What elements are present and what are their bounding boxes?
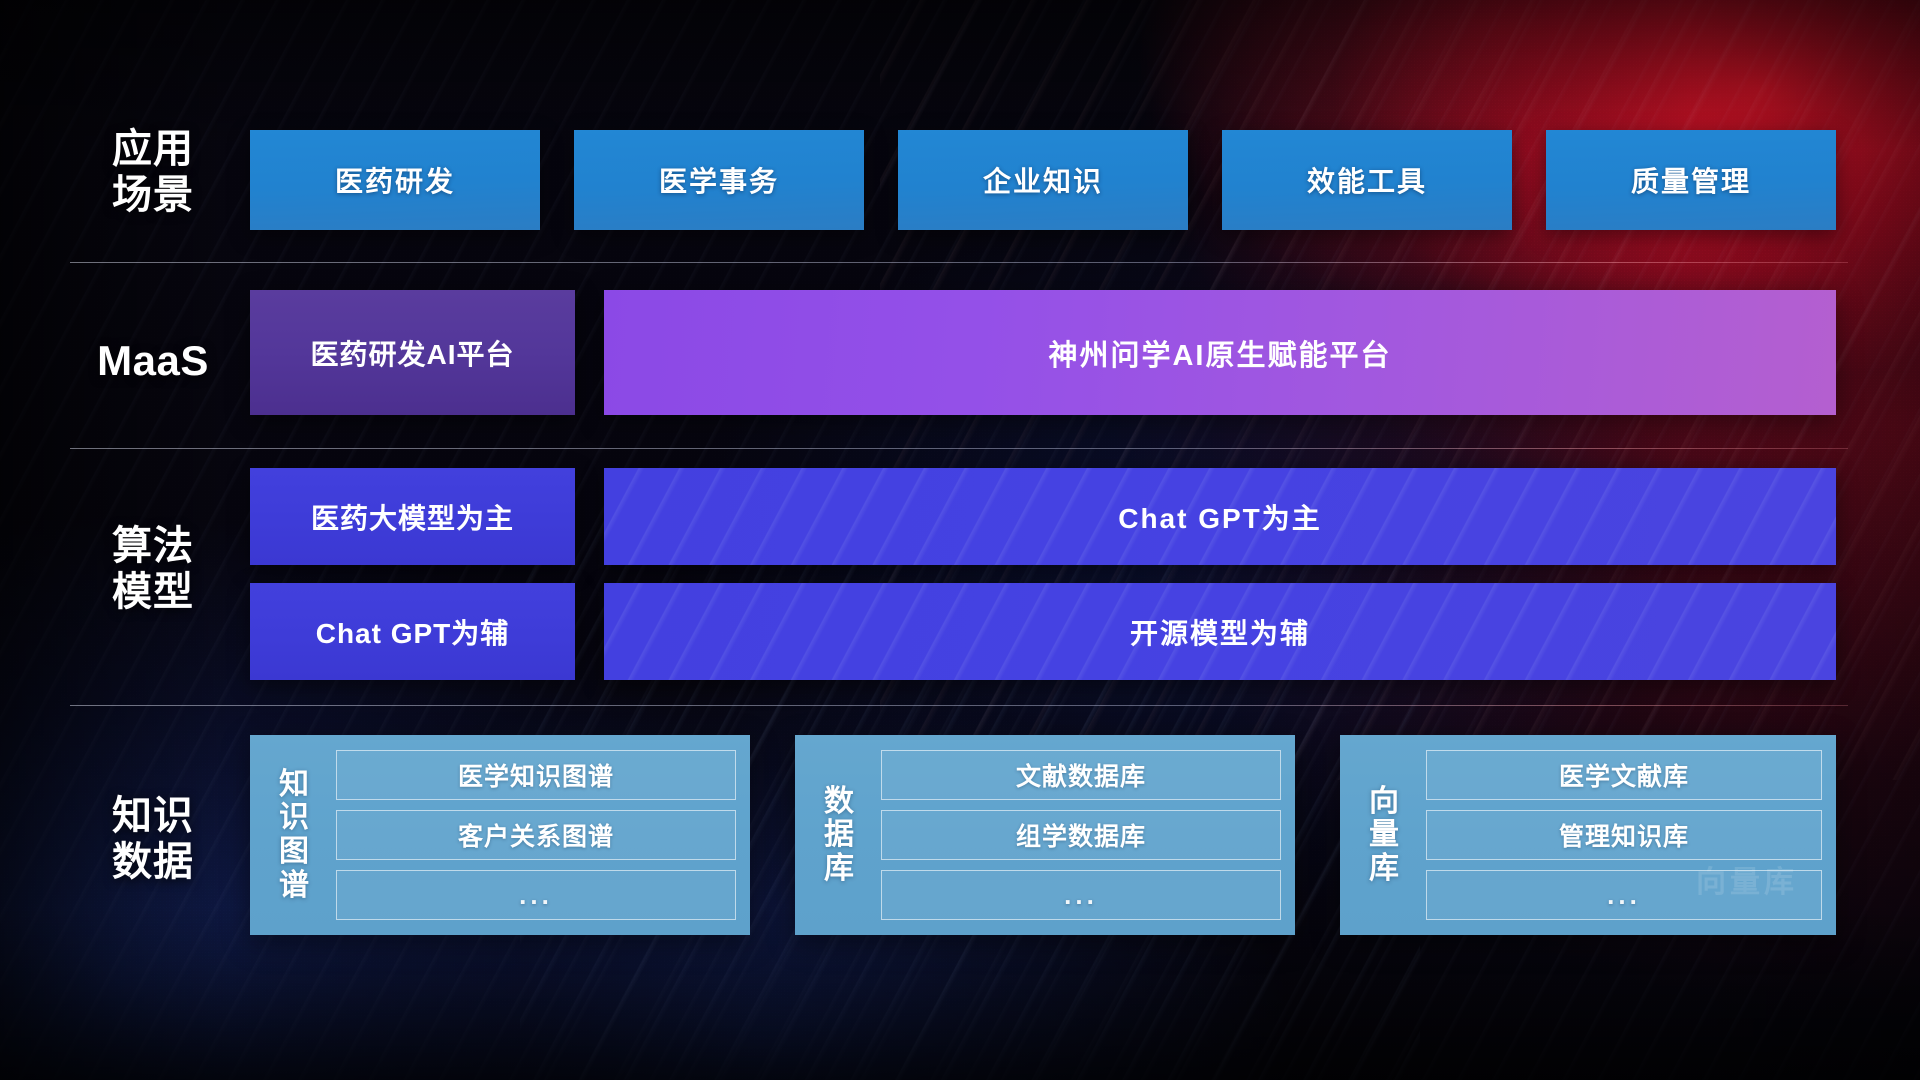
app-card-label: 效能工具	[1307, 160, 1427, 200]
app-card-label: 医药研发	[335, 160, 455, 200]
app-card-medical-affairs[interactable]: 医学事务	[574, 130, 864, 230]
row-label-algorithm-line2: 模型	[68, 569, 238, 615]
maas-card-shenzhou-wenxue-platform[interactable]: 神州问学AI原生赋能平台	[604, 290, 1836, 415]
divider-algorithm-knowledge	[70, 705, 1848, 706]
divider-maas-algorithm	[70, 448, 1848, 449]
maas-right-label: 神州问学AI原生赋能平台	[1048, 332, 1391, 374]
knowledge-group-vector-store: 向量库 医学文献库 管理知识库 ... 向量库	[1340, 735, 1836, 935]
knowledge-item-customer-relation-graph[interactable]: 客户关系图谱	[336, 810, 736, 860]
app-card-label: 质量管理	[1631, 160, 1751, 200]
algo-right-label: Chat GPT为主	[1118, 497, 1322, 537]
app-card-efficiency-tools[interactable]: 效能工具	[1222, 130, 1512, 230]
app-card-label: 企业知识	[983, 160, 1103, 200]
row-label-maas: MaaS	[68, 337, 238, 386]
app-card-quality-management[interactable]: 质量管理	[1546, 130, 1836, 230]
knowledge-item-more[interactable]: ...	[881, 870, 1281, 920]
algo-card-chatgpt-secondary[interactable]: Chat GPT为辅	[250, 583, 575, 680]
knowledge-group-items: 医学文献库 管理知识库 ...	[1412, 750, 1822, 920]
row-application: 医药研发 医学事务 企业知识 效能工具 质量管理	[0, 130, 1920, 230]
row-knowledge: 知识图谱 医学知识图谱 客户关系图谱 ... 数据库 文献数据库 组学数据库 .…	[0, 735, 1920, 935]
knowledge-item-management-knowledge-base[interactable]: 管理知识库	[1426, 810, 1822, 860]
knowledge-item-omics-database[interactable]: 组学数据库	[881, 810, 1281, 860]
app-card-enterprise-knowledge[interactable]: 企业知识	[898, 130, 1188, 230]
algo-card-chatgpt-primary[interactable]: Chat GPT为主	[604, 468, 1836, 565]
algo-card-opensource-secondary[interactable]: 开源模型为辅	[604, 583, 1836, 680]
diagram-canvas: 应用 场景 医药研发 医学事务 企业知识 效能工具 质量管理 MaaS 医药研发…	[0, 0, 1920, 1080]
algo-left-label: Chat GPT为辅	[316, 612, 510, 652]
knowledge-group-knowledge-graph: 知识图谱 医学知识图谱 客户关系图谱 ...	[250, 735, 750, 935]
app-card-label: 医学事务	[659, 160, 779, 200]
knowledge-group-database: 数据库 文献数据库 组学数据库 ...	[795, 735, 1295, 935]
knowledge-group-label: 向量库	[1356, 785, 1412, 886]
algo-card-medical-llm-primary[interactable]: 医药大模型为主	[250, 468, 575, 565]
knowledge-group-items: 医学知识图谱 客户关系图谱 ...	[322, 750, 736, 920]
knowledge-group-label: 知识图谱	[266, 768, 322, 902]
knowledge-group-items: 文献数据库 组学数据库 ...	[867, 750, 1281, 920]
row-label-maas-text: MaaS	[68, 337, 238, 386]
row-label-algorithm-line1: 算法	[68, 523, 238, 569]
algo-left-label: 医药大模型为主	[311, 497, 514, 537]
algo-right-label: 开源模型为辅	[1130, 612, 1310, 652]
knowledge-item-literature-database[interactable]: 文献数据库	[881, 750, 1281, 800]
maas-card-medical-ai-platform[interactable]: 医药研发AI平台	[250, 290, 575, 415]
knowledge-item-medical-literature-store[interactable]: 医学文献库	[1426, 750, 1822, 800]
app-card-medical-rnd[interactable]: 医药研发	[250, 130, 540, 230]
knowledge-item-medical-knowledge-graph[interactable]: 医学知识图谱	[336, 750, 736, 800]
knowledge-item-more[interactable]: ...	[1426, 870, 1822, 920]
knowledge-group-label: 数据库	[811, 785, 867, 886]
maas-left-label: 医药研发AI平台	[310, 333, 514, 373]
row-label-algorithm: 算法 模型	[68, 523, 238, 616]
divider-application-maas	[70, 262, 1848, 263]
knowledge-item-more[interactable]: ...	[336, 870, 736, 920]
